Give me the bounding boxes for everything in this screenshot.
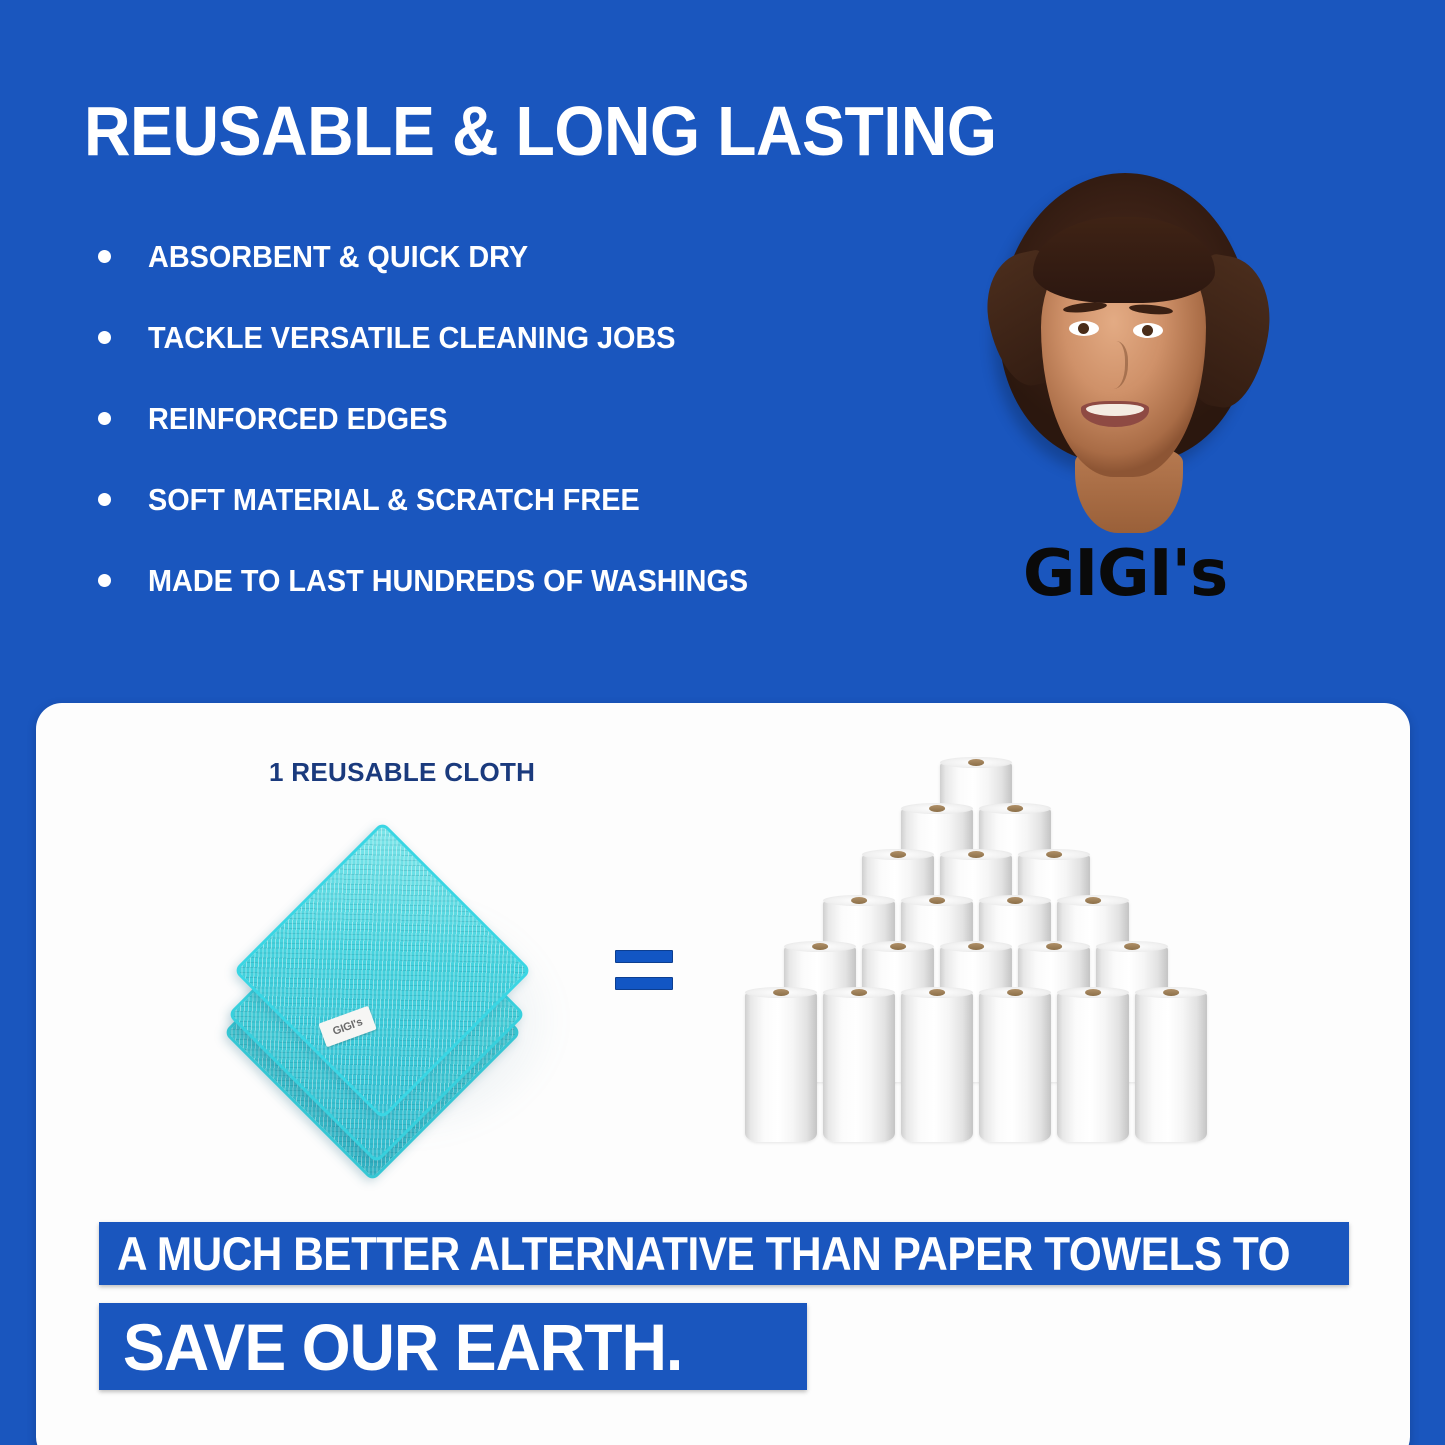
list-item-label: MADE TO LAST HUNDREDS OF WASHINGS [148,563,748,599]
brand-logo: GIGI's [975,165,1275,635]
list-item: MADE TO LAST HUNDREDS OF WASHINGS [98,540,898,621]
footer-banner-primary: A MUCH BETTER ALTERNATIVE THAN PAPER TOW… [99,1222,1349,1285]
microfiber-cloth-image: GIGI's [205,805,605,1180]
feature-list: ABSORBENT & QUICK DRY TACKLE VERSATILE C… [98,216,898,621]
list-item-label: REINFORCED EDGES [148,401,448,437]
equals-icon [615,950,671,990]
eye-left [1069,321,1099,336]
bullet-dot-icon [98,331,111,344]
footer-banner-primary-label: A MUCH BETTER ALTERNATIVE THAN PAPER TOW… [117,1226,1290,1281]
equals-bar-bottom [615,977,673,990]
equals-bar-top [615,950,673,963]
eye-right [1133,323,1163,338]
list-item-label: TACKLE VERSATILE CLEANING JOBS [148,320,676,356]
nose-shape [1099,341,1128,389]
brand-wordmark: GIGI's [985,537,1265,611]
paper-towel-roll [745,992,817,1142]
list-item-label: ABSORBENT & QUICK DRY [148,239,528,275]
paper-towel-roll [823,992,895,1142]
cloth-caption: 1 REUSABLE CLOTH [269,757,535,788]
list-item-label: SOFT MATERIAL & SCRATCH FREE [148,482,640,518]
page-title: REUSABLE & LONG LASTING [84,96,997,166]
list-item: SOFT MATERIAL & SCRATCH FREE [98,459,898,540]
paper-towel-roll [1135,992,1207,1142]
bullet-dot-icon [98,412,111,425]
footer-banner-secondary-label: SAVE OUR EARTH. [123,1309,682,1385]
list-item: REINFORCED EDGES [98,378,898,459]
list-item: TACKLE VERSATILE CLEANING JOBS [98,297,898,378]
paper-towel-roll [1057,992,1129,1142]
paper-towel-row [726,992,1226,1142]
bullet-dot-icon [98,574,111,587]
bullet-dot-icon [98,250,111,263]
bullet-dot-icon [98,493,111,506]
list-item: ABSORBENT & QUICK DRY [98,216,898,297]
paper-towel-roll [979,992,1051,1142]
portrait-illustration-icon [993,165,1258,535]
paper-towel-pyramid [726,762,1226,1174]
footer-banner-secondary: SAVE OUR EARTH. [99,1303,807,1390]
infographic-canvas: REUSABLE & LONG LASTING ABSORBENT & QUIC… [0,0,1445,1445]
paper-towel-roll [901,992,973,1142]
teeth-shape [1086,404,1144,416]
